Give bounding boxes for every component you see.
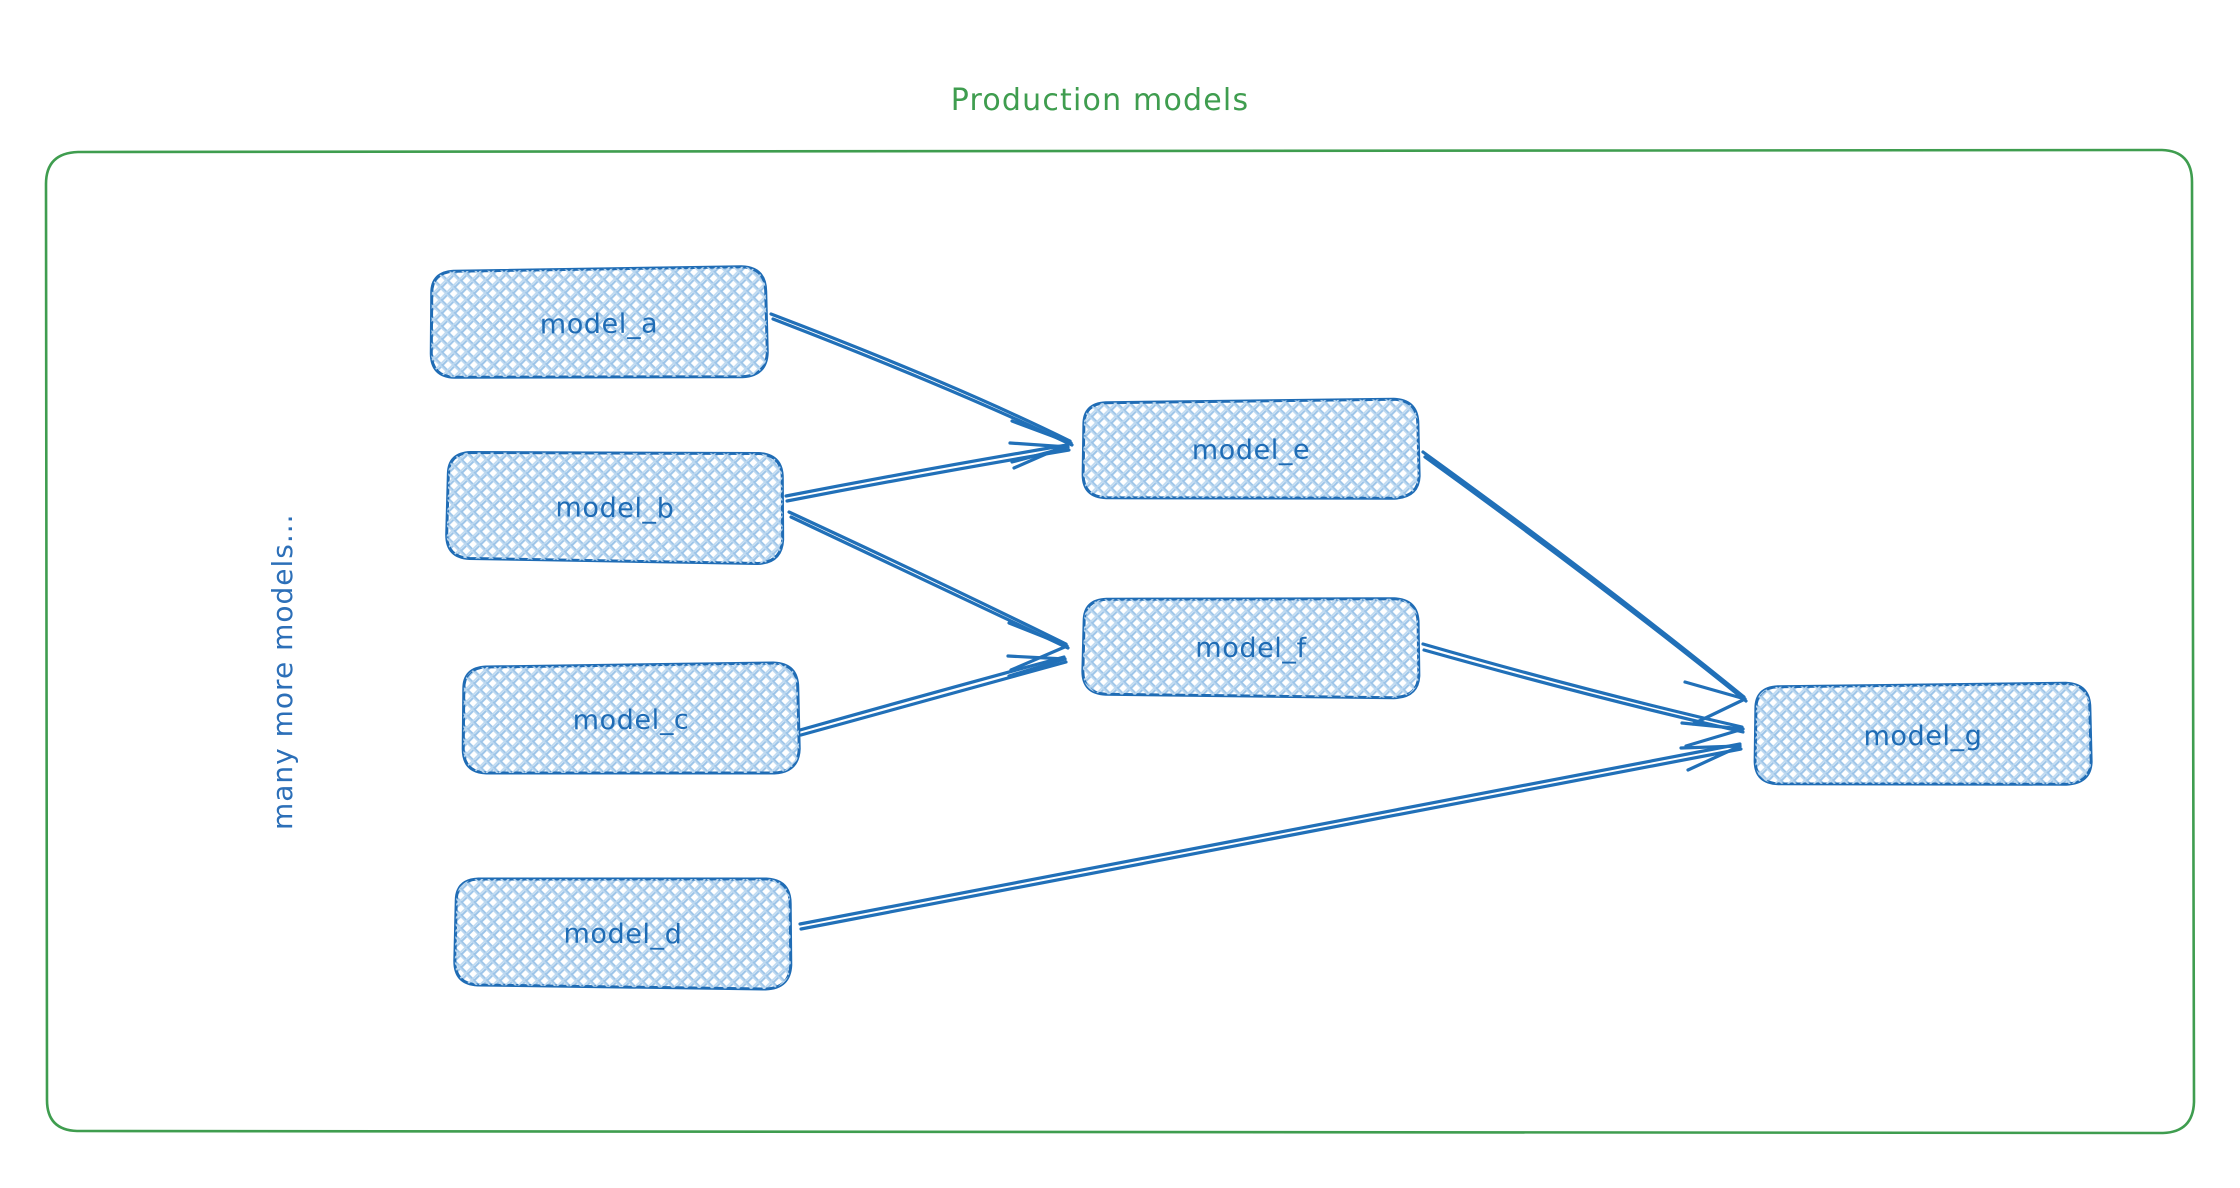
edge-model-b-to-model-e — [786, 443, 1069, 501]
edge-model-d-to-model-g — [800, 744, 1741, 929]
node-model-c[interactable]: model_c — [463, 663, 800, 775]
node-model-f-label: model_f — [1195, 633, 1307, 665]
diagram-canvas: Production models — [0, 0, 2240, 1188]
edge-model-b-to-model-f — [789, 512, 1068, 670]
many-more-models-label: many more models... — [266, 513, 299, 830]
node-model-e[interactable]: model_e — [1083, 399, 1420, 500]
diagram-surface: Production models — [0, 0, 2240, 1188]
node-model-b[interactable]: model_b — [446, 450, 783, 564]
node-model-c-label: model_c — [573, 705, 690, 737]
node-model-e-label: model_e — [1192, 435, 1311, 467]
node-model-b-label: model_b — [555, 492, 674, 524]
node-model-f[interactable]: model_f — [1083, 597, 1420, 698]
node-model-d-label: model_d — [563, 919, 682, 951]
group-title: Production models — [951, 83, 1250, 118]
node-model-g[interactable]: model_g — [1755, 683, 2092, 786]
edge-model-e-to-model-g — [1423, 452, 1746, 724]
node-model-a-label: model_a — [540, 308, 659, 340]
node-model-g-label: model_g — [1863, 721, 1982, 753]
many-more-models-note: many more models... — [266, 513, 299, 830]
node-model-d[interactable]: model_d — [455, 877, 792, 989]
edge-model-c-to-model-f — [800, 656, 1066, 735]
node-model-a[interactable]: model_a — [431, 267, 768, 380]
